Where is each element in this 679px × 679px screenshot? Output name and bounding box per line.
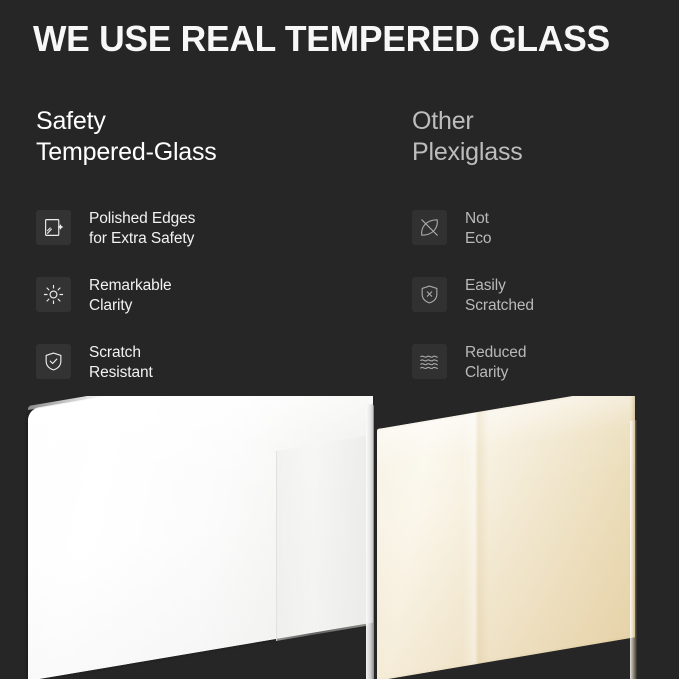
feature-list-right: Not Eco Easily Scratched [412, 208, 672, 409]
plexiglass-panel-edge [630, 420, 637, 679]
feature-label: Scratch Resistant [89, 342, 153, 382]
shield-check-icon [36, 344, 71, 379]
feature-label: Polished Edges for Extra Safety [89, 208, 195, 248]
leaf-crossed-out-icon [412, 210, 447, 245]
shield-x-icon [412, 277, 447, 312]
feature-label: Not Eco [465, 208, 491, 248]
tempered-glass-comparison-infographic: WE USE REAL TEMPERED GLASS Safety Temper… [0, 0, 679, 679]
feature-label: Reduced Clarity [465, 342, 526, 382]
column-other-plexiglass: Other Plexiglass Not Eco [412, 106, 672, 168]
feature-list-left: Polished Edges for Extra Safety Remarkab… [36, 208, 366, 409]
plexiglass-panel [377, 396, 635, 679]
feature-row-remarkable-clarity: Remarkable Clarity [36, 275, 366, 342]
wavy-lines-icon [412, 344, 447, 379]
column-safety-tempered-glass: Safety Tempered-Glass Polished Edges for… [36, 106, 366, 168]
page-title: WE USE REAL TEMPERED GLASS [33, 18, 644, 60]
feature-label: Remarkable Clarity [89, 275, 172, 315]
polished-edge-sparkle-icon [36, 210, 71, 245]
column-title-right: Other Plexiglass [412, 106, 672, 168]
sun-clarity-icon [36, 277, 71, 312]
column-title-left: Safety Tempered-Glass [36, 106, 366, 168]
feature-row-easily-scratched: Easily Scratched [412, 275, 672, 342]
tempered-glass-panel [28, 396, 373, 679]
feature-label: Easily Scratched [465, 275, 534, 315]
product-panels-photo [0, 396, 679, 679]
feature-row-not-eco: Not Eco [412, 208, 672, 275]
feature-row-polished-edges: Polished Edges for Extra Safety [36, 208, 366, 275]
tempered-glass-panel-edge [366, 404, 374, 679]
